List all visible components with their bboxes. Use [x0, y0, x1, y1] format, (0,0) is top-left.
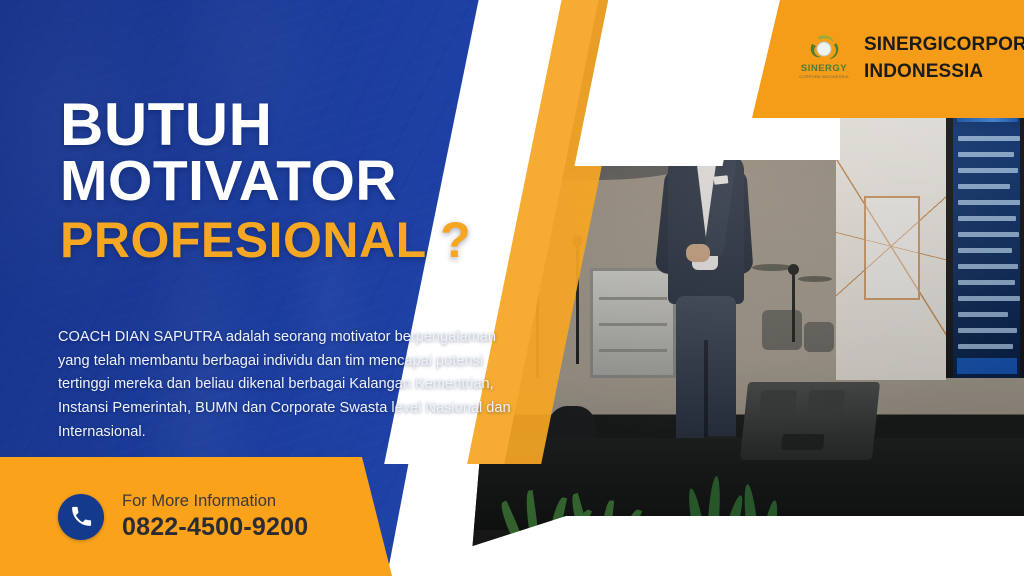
- phone-icon: [58, 494, 104, 540]
- phone-handset-glyph: [69, 504, 94, 529]
- stage-backdrop-panel: [836, 112, 946, 380]
- backdrop-frame: [864, 196, 920, 300]
- promo-banner: SINERGY CORPORA INDONESSIA SINERGICORPOR…: [0, 0, 1024, 576]
- company-name-line1: SINERGICORPORA: [864, 32, 1024, 59]
- headline-line-1: BUTUH: [60, 96, 530, 154]
- headline-line-2: MOTIVATOR: [60, 154, 530, 209]
- presentation-screen: [946, 78, 1024, 378]
- contact-text: For More Information 0822-4500-9200: [122, 491, 308, 542]
- stage-monitor-speaker: [740, 382, 880, 460]
- contact-label: For More Information: [122, 491, 308, 512]
- headline: BUTUH MOTIVATOR PROFESIONAL ?: [60, 96, 530, 272]
- sinergy-logo-icon: SINERGY CORPORA INDONESSIA: [798, 32, 850, 86]
- speaker-trousers: [676, 296, 736, 446]
- speaker-hands: [686, 244, 710, 262]
- company-name-line2: INDONESSIA: [864, 59, 1024, 86]
- drum-kit: [752, 258, 848, 378]
- headline-line-3: PROFESIONAL ?: [60, 208, 530, 272]
- contact-phone-number[interactable]: 0822-4500-9200: [122, 512, 308, 542]
- body-paragraph: COACH DIAN SAPUTRA adalah seorang motiva…: [58, 326, 528, 444]
- logo-tagline: CORPORA INDONESSIA: [792, 75, 856, 79]
- speaker-figure: [658, 118, 754, 468]
- slide-footer: [957, 358, 1017, 374]
- contact-bar[interactable]: For More Information 0822-4500-9200: [0, 457, 392, 576]
- company-name: SINERGICORPORA INDONESSIA: [864, 32, 1024, 86]
- logo-panel: SINERGY CORPORA INDONESSIA SINERGICORPOR…: [752, 0, 1024, 118]
- logo-wordmark: SINERGY CORPORA INDONESSIA: [792, 64, 856, 79]
- speaker-pocket-square: [714, 175, 729, 184]
